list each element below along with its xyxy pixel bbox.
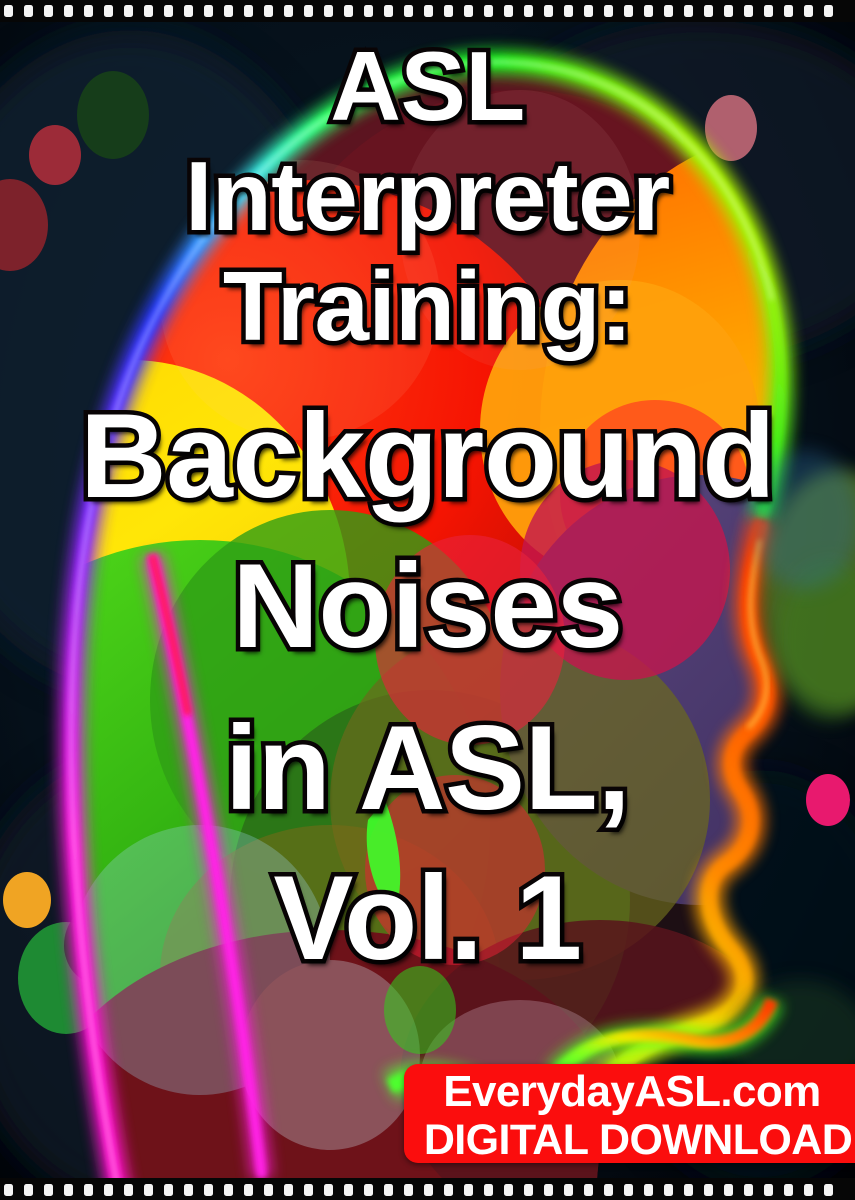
film-perforation bbox=[284, 5, 293, 17]
film-perforation bbox=[144, 1184, 153, 1196]
film-perforation bbox=[544, 5, 553, 17]
film-perforation bbox=[64, 5, 73, 17]
film-perforation bbox=[424, 1184, 433, 1196]
film-perforation bbox=[364, 1184, 373, 1196]
film-perforation bbox=[364, 5, 373, 17]
film-perforation bbox=[764, 1184, 773, 1196]
badge-format-label: DIGITAL DOWNLOAD bbox=[404, 1117, 855, 1163]
film-perforation bbox=[24, 1184, 33, 1196]
dot-pink-right bbox=[806, 774, 850, 826]
film-perforation bbox=[104, 5, 113, 17]
film-perforation bbox=[784, 5, 793, 17]
film-perforation bbox=[164, 5, 173, 17]
film-perforation bbox=[524, 1184, 533, 1196]
film-perforation bbox=[744, 5, 753, 17]
film-perforation bbox=[124, 1184, 133, 1196]
film-perforation bbox=[564, 1184, 573, 1196]
film-perforation bbox=[644, 5, 653, 17]
film-perforation bbox=[704, 1184, 713, 1196]
film-perforation bbox=[444, 1184, 453, 1196]
film-perforation bbox=[184, 5, 193, 17]
film-perforation bbox=[784, 1184, 793, 1196]
film-perforation bbox=[384, 5, 393, 17]
product-cover-image: ASL Interpreter Training: Background Noi… bbox=[0, 0, 855, 1200]
film-perforation bbox=[204, 1184, 213, 1196]
film-perforation bbox=[624, 1184, 633, 1196]
film-perforation bbox=[124, 5, 133, 17]
film-perforation bbox=[464, 5, 473, 17]
film-perforation bbox=[324, 5, 333, 17]
film-perforation bbox=[804, 1184, 813, 1196]
film-perforation bbox=[44, 1184, 53, 1196]
film-perforation bbox=[104, 1184, 113, 1196]
film-perforation bbox=[764, 5, 773, 17]
film-perforation bbox=[304, 5, 313, 17]
film-perforation bbox=[724, 1184, 733, 1196]
film-perforation bbox=[524, 5, 533, 17]
film-perforation bbox=[424, 5, 433, 17]
film-perforation bbox=[264, 5, 273, 17]
film-perforation bbox=[324, 1184, 333, 1196]
film-perforation bbox=[224, 5, 233, 17]
film-perforation bbox=[404, 5, 413, 17]
film-perforation bbox=[824, 5, 833, 17]
film-perforation bbox=[204, 5, 213, 17]
film-perforation bbox=[44, 5, 53, 17]
dot-dark-red-small bbox=[29, 125, 81, 185]
film-perforation bbox=[164, 1184, 173, 1196]
film-perforation bbox=[64, 1184, 73, 1196]
digital-download-badge[interactable]: EverydayASL.com DIGITAL DOWNLOAD bbox=[404, 1064, 855, 1163]
film-perforation bbox=[504, 1184, 513, 1196]
film-perforation bbox=[84, 1184, 93, 1196]
film-perforation bbox=[264, 1184, 273, 1196]
film-perforation bbox=[584, 5, 593, 17]
filmstrip-top bbox=[0, 0, 855, 22]
film-perforation bbox=[484, 1184, 493, 1196]
film-perforation bbox=[24, 5, 33, 17]
film-perforation bbox=[544, 1184, 553, 1196]
film-perforation bbox=[304, 1184, 313, 1196]
film-perforation bbox=[504, 5, 513, 17]
film-perforation bbox=[84, 5, 93, 17]
film-perforation bbox=[644, 1184, 653, 1196]
film-perforation bbox=[664, 1184, 673, 1196]
film-perforation bbox=[584, 1184, 593, 1196]
film-perforation bbox=[344, 5, 353, 17]
film-perforation bbox=[404, 1184, 413, 1196]
cover-artwork bbox=[0, 0, 855, 1200]
badge-website-label: EverydayASL.com bbox=[404, 1064, 855, 1117]
film-perforation bbox=[664, 5, 673, 17]
film-perforation bbox=[244, 1184, 253, 1196]
film-perforation bbox=[604, 5, 613, 17]
film-perforation bbox=[604, 1184, 613, 1196]
abstract-head-artwork-svg bbox=[0, 0, 855, 1200]
perforation-row-bottom bbox=[4, 1184, 833, 1196]
film-perforation bbox=[244, 5, 253, 17]
film-perforation bbox=[684, 5, 693, 17]
film-perforation bbox=[464, 1184, 473, 1196]
film-perforation bbox=[684, 1184, 693, 1196]
film-perforation bbox=[4, 1184, 13, 1196]
film-perforation bbox=[184, 1184, 193, 1196]
perforation-row-top bbox=[4, 5, 833, 17]
film-perforation bbox=[384, 1184, 393, 1196]
blob-green-small bbox=[384, 966, 456, 1054]
film-perforation bbox=[484, 5, 493, 17]
film-perforation bbox=[444, 5, 453, 17]
film-perforation bbox=[144, 5, 153, 17]
film-perforation bbox=[724, 5, 733, 17]
film-perforation bbox=[564, 5, 573, 17]
dot-dark-green bbox=[77, 71, 149, 159]
film-perforation bbox=[344, 1184, 353, 1196]
film-perforation bbox=[624, 5, 633, 17]
film-perforation bbox=[744, 1184, 753, 1196]
film-perforation bbox=[804, 5, 813, 17]
film-perforation bbox=[824, 1184, 833, 1196]
film-perforation bbox=[4, 5, 13, 17]
blob-red-pink bbox=[375, 535, 565, 745]
film-perforation bbox=[284, 1184, 293, 1196]
film-perforation bbox=[224, 1184, 233, 1196]
film-perforation bbox=[704, 5, 713, 17]
dot-orange-left bbox=[3, 872, 51, 928]
filmstrip-bottom bbox=[0, 1178, 855, 1200]
